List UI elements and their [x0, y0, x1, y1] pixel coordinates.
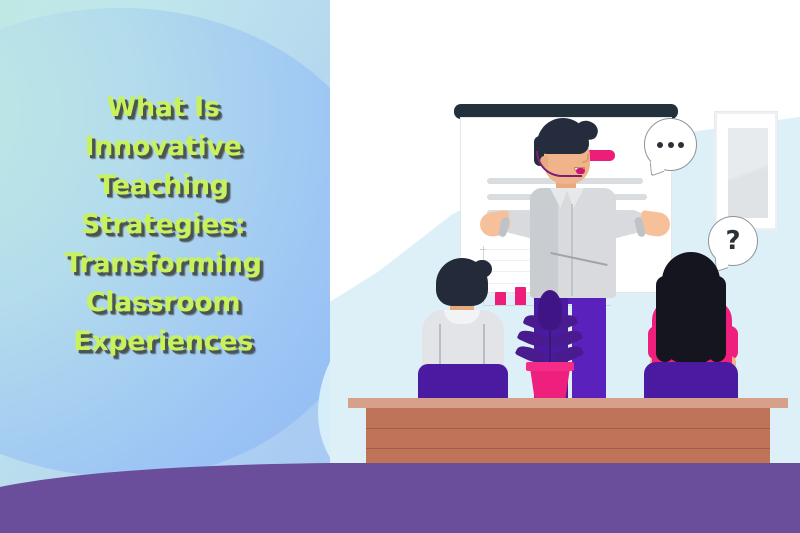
page-title: What Is Innovative Teaching Strategies: …	[28, 88, 298, 361]
presenter-torso-shade	[530, 188, 558, 298]
classroom-illustration: ?	[330, 0, 800, 533]
wall-picture-frame	[715, 112, 777, 230]
plant-pot-rim	[526, 362, 574, 371]
footer-band	[0, 463, 800, 533]
platform-plank-line	[366, 428, 770, 430]
ellipsis-dot	[678, 142, 684, 148]
headset-microphone-boom	[536, 151, 582, 177]
presenter-shirt-placket	[571, 204, 573, 296]
plant-pot	[530, 368, 570, 400]
ellipsis-dot	[668, 142, 674, 148]
question-mark-glyph: ?	[725, 228, 740, 254]
man-hair-tuft	[472, 260, 492, 278]
platform-plank-line	[366, 448, 770, 450]
footer-curve-shape	[0, 463, 800, 533]
plant-top-leaf	[538, 290, 562, 330]
woman-hair	[662, 252, 720, 364]
platform-top-edge	[348, 398, 788, 408]
headset-microphone-tip	[576, 168, 585, 174]
featured-image-canvas: ?	[0, 0, 800, 533]
picture-frame-artwork	[728, 128, 768, 218]
chart-y-tick	[480, 249, 486, 250]
